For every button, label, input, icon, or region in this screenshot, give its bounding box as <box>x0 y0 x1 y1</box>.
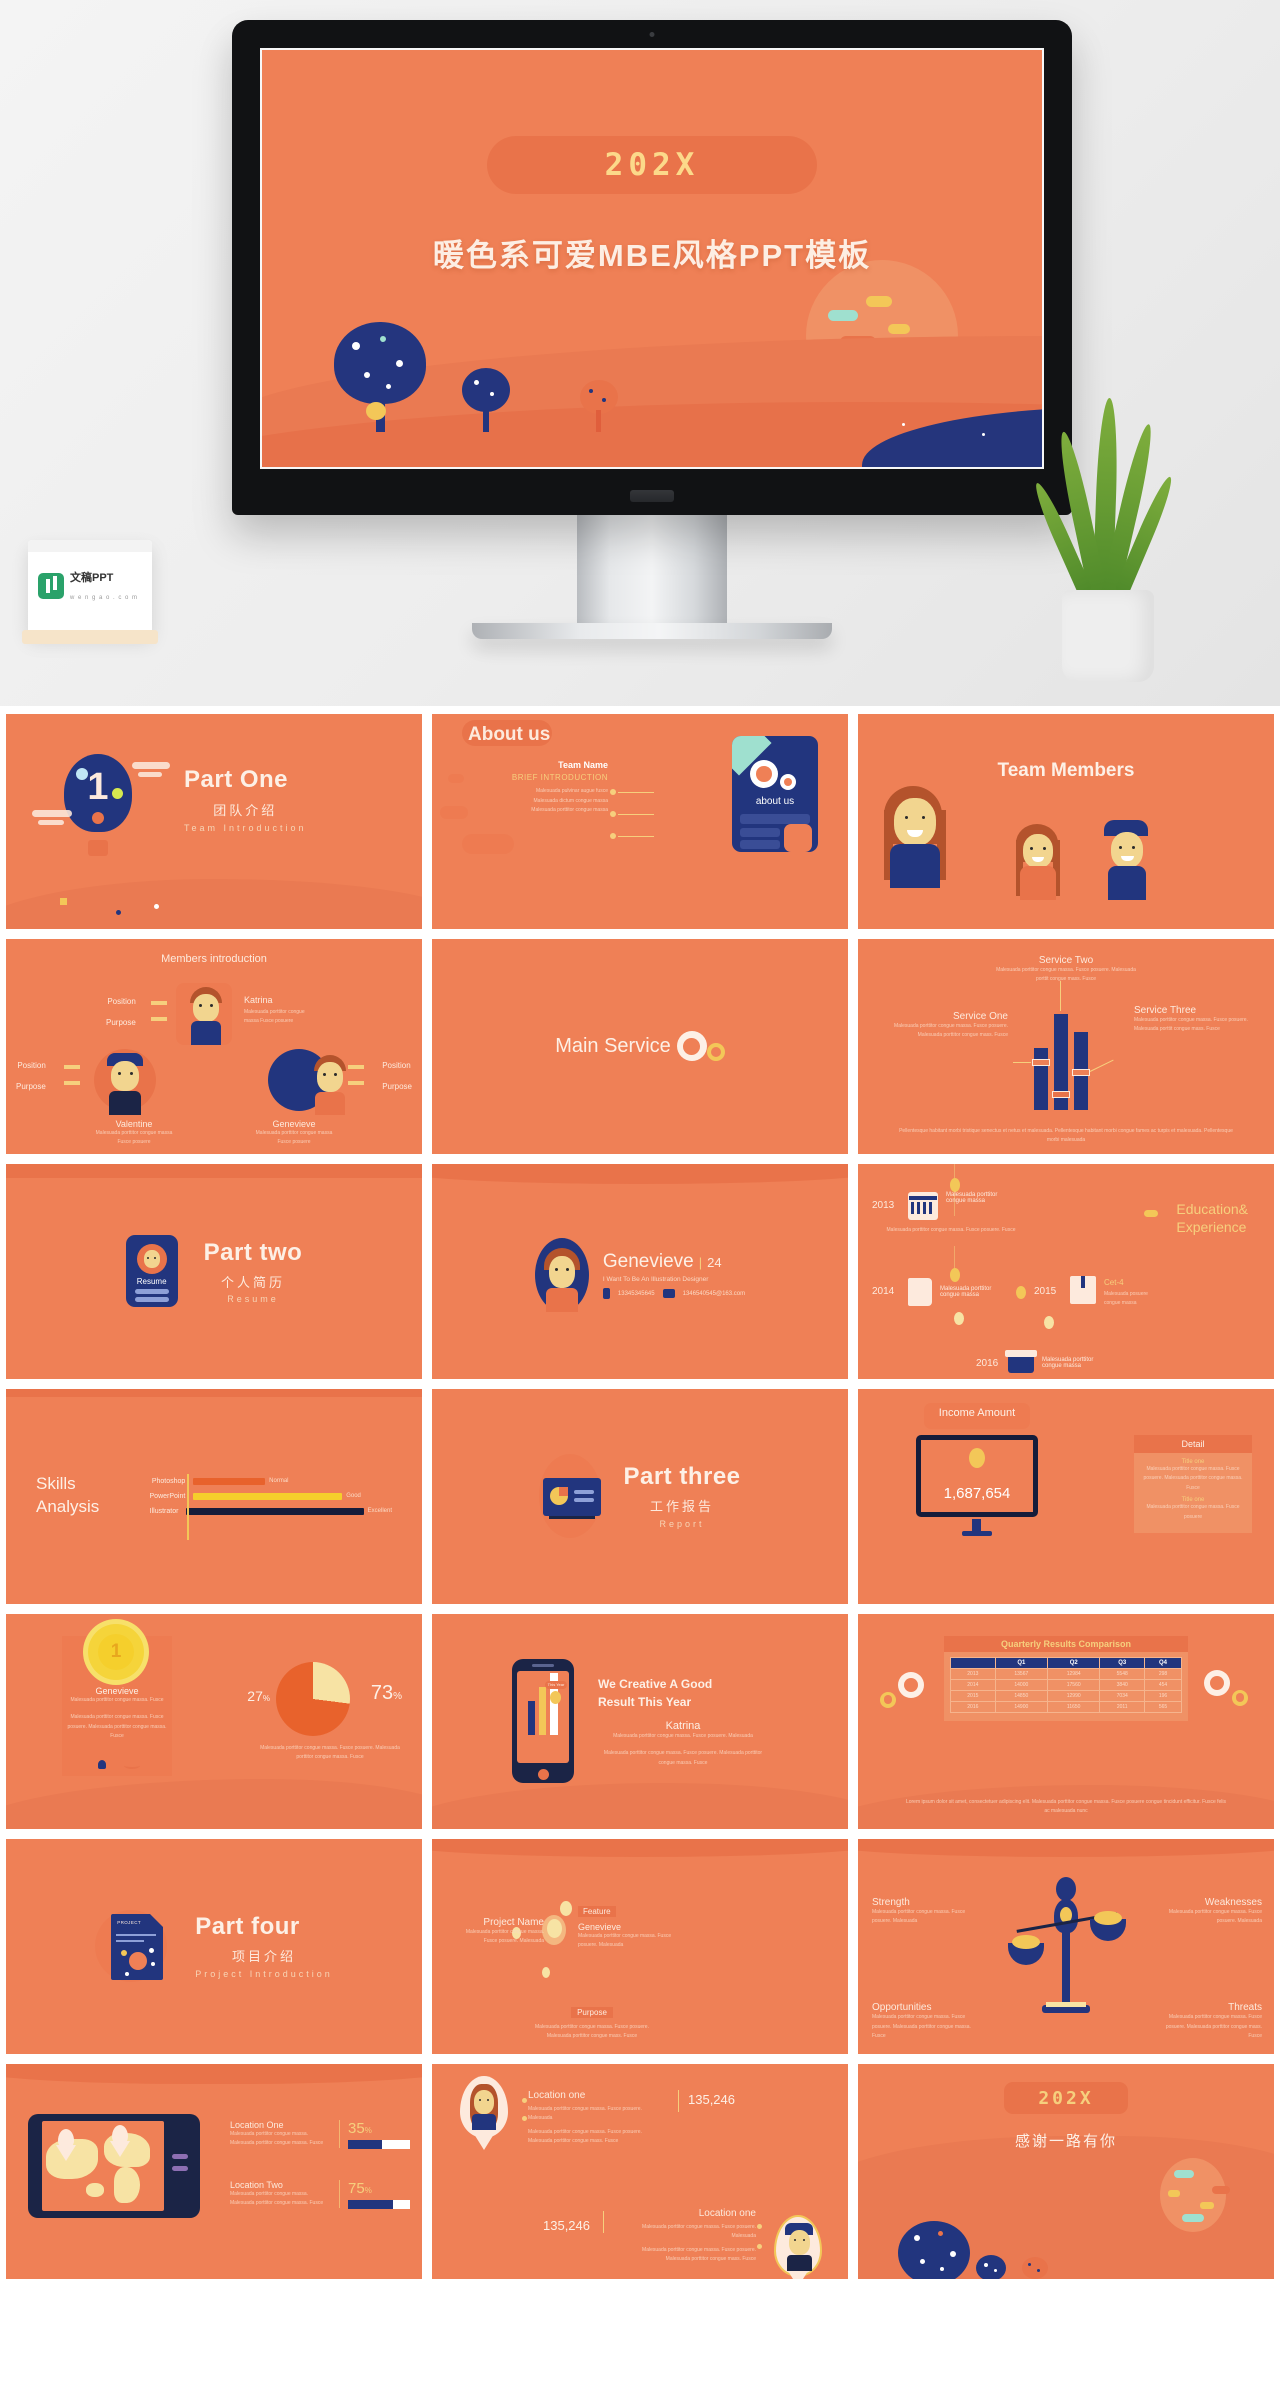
table-col-head: Q4 <box>1145 1657 1182 1668</box>
calendar-brand-sub: w e n g a o . c o m <box>70 595 138 601</box>
tree-small <box>976 2255 1006 2279</box>
map-pin-male <box>774 2215 822 2277</box>
phone-icon <box>603 1288 610 1299</box>
tablet-mockup <box>28 2114 200 2218</box>
location-bullet: Malesuada porttitor congue massa. Fusce … <box>618 2223 756 2242</box>
year-badge-label: 202X <box>605 147 700 183</box>
service-label: Service One <box>888 1011 1008 1022</box>
location-label: Location one <box>618 2208 756 2219</box>
purpose-label: Purpose <box>571 2007 613 2018</box>
members-intro-heading: Members introduction <box>6 953 422 965</box>
location-desc: Malesuada porttitor congue massa. Malesu… <box>230 2190 331 2209</box>
award-sub: Malesuada porttitor congue massa. Fusce <box>62 1696 172 1706</box>
apple-logo-icon <box>630 490 674 502</box>
detail-heading: Detail <box>1134 1435 1252 1453</box>
location-label: Location Two <box>230 2180 331 2190</box>
income-amount: 1,687,654 <box>921 1485 1033 1502</box>
cell: 5548 <box>1100 1668 1145 1679</box>
swot-label: Opportunities <box>872 2002 982 2013</box>
table-col-head <box>951 1657 996 1668</box>
plant-decoration <box>1034 422 1184 682</box>
service-label: Service Two <box>996 955 1136 966</box>
member-name: Valentine <box>94 1119 174 1129</box>
feature-name: Genevieve <box>578 1922 676 1932</box>
slide-about-us[interactable]: About us Team Name BRIEF INTRODUCTION Ma… <box>432 714 848 929</box>
slide-service-columns[interactable]: Service Two Malesuada porttitor congue m… <box>858 939 1274 1154</box>
slide-thumbnail-grid: 1 Part One 团队介绍 Team Introduction About … <box>0 706 1280 2299</box>
bar-1 <box>1034 1048 1048 1110</box>
result-heading-1: We Creative A Good <box>598 1677 712 1691</box>
skill-rating: Excellent <box>368 1508 392 1514</box>
profile-email: 1346540545@163.com <box>683 1291 745 1297</box>
slide-title-cn: 团队介绍 <box>184 800 307 819</box>
member-field-label: Purpose <box>382 1082 412 1091</box>
swot-label: Weaknesses <box>1162 1897 1262 1908</box>
project-file-icon: PROJECT <box>111 1914 163 1980</box>
slide-subtitle: Project Introduction <box>195 1969 333 1979</box>
slide-location-pins[interactable]: Location one Malesuada porttitor congue … <box>432 2064 848 2279</box>
project-card-label: PROJECT <box>117 1920 141 1925</box>
swot-desc: Malesuada porttitor congue massa. Fusce … <box>1162 1908 1262 1927</box>
timeline-title: Malesuada porttitor congue massa <box>940 1286 1006 1298</box>
pct-symbol: % <box>365 2126 372 2135</box>
cell: 12990 <box>1048 1690 1100 1701</box>
map-pin-icon <box>58 2129 74 2149</box>
chart-screen-icon <box>543 1478 601 1516</box>
team-members-heading: Team Members <box>858 760 1274 782</box>
pct-symbol: % <box>393 1691 402 1702</box>
slide-title-cn: 个人简历 <box>204 1272 303 1291</box>
location-value: 135,246 <box>543 2218 590 2233</box>
detail-desc: Malesuada porttitor congue massa. Fusce … <box>1142 1465 1244 1494</box>
member-name: Katrina <box>244 995 320 1005</box>
table-col-head: Q3 <box>1100 1657 1145 1668</box>
phone-mockup: This Year <box>512 1659 574 1783</box>
slide-title-cn: 项目介绍 <box>195 1946 333 1965</box>
mail-icon <box>663 1289 675 1298</box>
location-label: Location One <box>230 2120 331 2130</box>
gear-icon <box>677 1031 707 1061</box>
skills-bar-chart: Photoshop Normal PowerPoint Good Illustr… <box>135 1478 392 1515</box>
slide-project-feature[interactable]: Project Name Malesuada porttitor congue … <box>432 1839 848 2054</box>
map-pin-female <box>460 2076 508 2138</box>
result-heading-2: Result This Year <box>598 1695 691 1709</box>
slide-thanks-cover[interactable]: 202X 感谢一路有你 <box>858 2064 1274 2279</box>
member-name: Genevieve <box>254 1119 334 1129</box>
cell: 3840 <box>1100 1679 1145 1690</box>
purpose-desc: Malesuada porttitor congue massa. Fusce … <box>528 2023 656 2042</box>
cell: 2014 <box>951 1679 996 1690</box>
award-desc: Malesuada porttitor congue massa. Fusce … <box>62 1713 172 1742</box>
swot-desc: Malesuada porttitor congue massa. Fusce … <box>1152 2013 1262 2042</box>
member-field-label: Position <box>16 1061 46 1070</box>
slide-education-experience[interactable]: Education& Experience 2013 Malesuada por… <box>858 1164 1274 1379</box>
project-desc: Malesuada porttitor congue massa. Fusce … <box>452 1928 544 1947</box>
hero-slide-screen: 202X 暖色系可爱MBE风格PPT模板 <box>260 48 1044 469</box>
cell: 17560 <box>1048 1679 1100 1690</box>
skills-heading-1: Skills <box>36 1473 99 1496</box>
timeline-desc: Malesuada posuere congue massa <box>1104 1290 1158 1309</box>
map-pin-icon <box>112 2125 128 2145</box>
member-field-label: Purpose <box>106 1018 136 1027</box>
location-desc: Malesuada porttitor congue massa. Malesu… <box>230 2130 331 2149</box>
timeline-year: 2013 <box>872 1200 894 1211</box>
tree-small <box>462 368 510 412</box>
timeline-title: Cet-4 <box>1104 1278 1124 1287</box>
edu-heading-1: Education& <box>1176 1200 1248 1218</box>
profile-age: 24 <box>707 1255 721 1270</box>
gear-icon <box>1204 1670 1230 1696</box>
cell: 298 <box>1145 1668 1182 1679</box>
location-label: Location one <box>528 2090 666 2101</box>
cell: 2011 <box>1100 1701 1145 1712</box>
slide-part-three-cover[interactable]: Part three 工作报告 Report <box>432 1389 848 1604</box>
slide-subtitle: Team Introduction <box>184 823 307 833</box>
slide-swot-balance[interactable]: Strength Malesuada porttitor congue mass… <box>858 1839 1274 2054</box>
monitor-frame: 1,687,654 <box>916 1435 1038 1517</box>
webcam-icon <box>650 32 655 37</box>
gear-icon-small <box>880 1692 896 1708</box>
slide-quarterly-table[interactable]: Quarterly Results Comparison Q1 Q2 Q3 Q4… <box>858 1614 1274 1829</box>
bush-orange <box>580 380 618 414</box>
desk-calendar: 文稿PPT w e n g a o . c o m <box>28 540 152 634</box>
slide-phone-result[interactable]: This Year We Creative A Good Result This… <box>432 1614 848 1829</box>
brand-logo-icon <box>38 573 64 599</box>
slide-title-en: Part two <box>204 1239 303 1267</box>
imac-mockup: 202X 暖色系可爱MBE风格PPT模板 <box>232 20 1072 639</box>
pie-right-value: 73 <box>371 1682 393 1704</box>
pie-desc: Malesuada porttitor congue massa. Fusce … <box>260 1744 400 1763</box>
profile-phone: 13345345645 <box>618 1291 655 1297</box>
table-title: Quarterly Results Comparison <box>944 1636 1188 1652</box>
slide-profile-card[interactable]: Genevieve | 24 I Want To Be An Illustrat… <box>432 1164 848 1379</box>
feature-desc: Malesuada porttitor congue massa. Fusce … <box>578 1932 676 1951</box>
feature-label: Feature <box>578 1906 616 1917</box>
timeline-year: 2014 <box>872 1286 894 1297</box>
award-name: Genevieve <box>62 1686 172 1696</box>
slide-members-introduction[interactable]: Members introduction Position Purpose Ka… <box>6 939 422 1154</box>
cell: 14000 <box>995 1679 1047 1690</box>
quarterly-results-table: Q1 Q2 Q3 Q4 201313567129845548298 201414… <box>950 1657 1182 1713</box>
slide-income-amount[interactable]: Income Amount 1,687,654 Detail Title one… <box>858 1389 1274 1604</box>
table-row: 201614900116502011565 <box>951 1701 1182 1712</box>
location-bullet: Malesuada porttitor congue massa. Fusce … <box>528 2105 666 2124</box>
slide-main-service-cover[interactable]: Main Service <box>432 939 848 1154</box>
book-icon <box>908 1278 932 1306</box>
service-footnote: Pellentesque habitant morbi tristique se… <box>898 1127 1234 1146</box>
table-row: 201414000175603840454 <box>951 1679 1182 1690</box>
timeline-year: 2016 <box>976 1358 998 1369</box>
result-desc: Malesuada porttitor congue massa. Fusce … <box>598 1732 768 1742</box>
profile-tagline: I Want To Be An Illustration Designer <box>603 1276 745 1283</box>
cell: 14850 <box>995 1690 1047 1701</box>
balance-scale-icon <box>1006 1877 1126 2013</box>
year-badge: 202X <box>487 136 817 194</box>
cell: 13567 <box>995 1668 1047 1679</box>
timeline-year: 2015 <box>1034 1286 1056 1297</box>
edu-heading-2: Experience <box>1176 1218 1248 1236</box>
slide-part-one-cover[interactable]: 1 Part One 团队介绍 Team Introduction <box>6 714 422 929</box>
bush-orange <box>1022 2257 1048 2279</box>
about-bullet: Malesuada dictum congue massa <box>490 797 608 807</box>
resume-card-icon: Resume <box>126 1235 178 1307</box>
member-field-label: Position <box>382 1061 412 1070</box>
cell: 7034 <box>1100 1690 1145 1701</box>
detail-desc: Malesuada porttitor congue massa. Fusce … <box>1142 1503 1244 1522</box>
about-bullet: Malesuada pulvinar augue fusce <box>490 787 608 797</box>
service-desc: Malesuada porttitor congue massa. Fusce … <box>996 966 1136 985</box>
cell: 12984 <box>1048 1668 1100 1679</box>
location-pct: 75 <box>348 2180 365 2197</box>
hero-title: 暖色系可爱MBE风格PPT模板 <box>262 230 1042 275</box>
calendar-binding <box>28 540 152 552</box>
gear-icon-small <box>1232 1690 1248 1706</box>
medal-icon: 1 <box>88 1624 144 1680</box>
table-footnote: Lorem ipsum dolor sit amet, consectetuer… <box>904 1798 1228 1817</box>
table-col-head: Q1 <box>995 1657 1047 1668</box>
location-pct: 35 <box>348 2120 365 2137</box>
gear-icon-small <box>707 1043 725 1061</box>
hero-desk-mockup: 202X 暖色系可爱MBE风格PPT模板 文稿PPT w e n g a o .… <box>0 0 1280 706</box>
slide-team-members[interactable]: Team Members <box>858 714 1274 929</box>
table-row: 201313567129845548298 <box>951 1668 1182 1679</box>
table-header-row: Q1 Q2 Q3 Q4 <box>951 1657 1182 1668</box>
skill-label: Illustrator <box>135 1508 178 1515</box>
calendar-base <box>22 630 158 644</box>
about-bullet: Malesuada porttitor congue massa <box>490 806 608 816</box>
service-desc: Malesuada porttitor congue massa. Fusce … <box>1134 1016 1252 1035</box>
cell: 565 <box>1145 1701 1182 1712</box>
slide-part-four-cover[interactable]: PROJECT Part four 项目介绍 Project Introduct… <box>6 1839 422 2054</box>
result-desc-2: Malesuada porttitor congue massa. Fusce … <box>598 1749 768 1768</box>
cell: 11650 <box>1048 1701 1100 1712</box>
slide-title-cn: 工作报告 <box>623 1496 740 1515</box>
skill-rating: Good <box>346 1493 361 1499</box>
table-col-head: Q2 <box>1048 1657 1100 1668</box>
open-book-icon <box>1070 1276 1096 1304</box>
cell: 2013 <box>951 1668 996 1679</box>
timeline-title: Malesuada porttitor congue massa <box>1042 1357 1108 1369</box>
table-row: 201514850129907034196 <box>951 1690 1182 1701</box>
pie-left-value: 27 <box>247 1688 263 1704</box>
slide-skills-analysis[interactable]: Skills Analysis Photoshop Normal PowerPo… <box>6 1389 422 1604</box>
imac-stand-neck <box>577 515 727 623</box>
service-desc: Malesuada porttitor congue massa. Fusce … <box>888 1022 1008 1041</box>
slide-part-two-cover[interactable]: Resume Part two 个人简历 Resume <box>6 1164 422 1379</box>
pie-chart <box>276 1662 350 1736</box>
project-icon-backdrop: PROJECT <box>95 1910 167 1982</box>
slide-title-en: Part four <box>195 1913 333 1941</box>
timeline-title: Malesuada porttitor congue massa <box>946 1192 1018 1204</box>
calendar-brand-text: 文稿PPT <box>70 572 113 584</box>
about-heading: About us <box>468 724 550 746</box>
slide-tablet-locations[interactable]: Location One Malesuada porttitor congue … <box>6 2064 422 2279</box>
thanks-year-badge: 202X <box>858 2088 1274 2109</box>
result-person: Katrina <box>598 1720 768 1732</box>
location-value: 135,246 <box>688 2092 735 2107</box>
graduation-cap-icon <box>1008 1353 1034 1373</box>
bush-tiny <box>366 402 386 420</box>
cell: 196 <box>1145 1690 1182 1701</box>
brief-label: BRIEF INTRODUCTION <box>490 773 608 782</box>
cell: 2015 <box>951 1690 996 1701</box>
income-heading: Income Amount <box>924 1407 1030 1419</box>
pct-symbol: % <box>365 2186 372 2195</box>
cell: 2016 <box>951 1701 996 1712</box>
member-field-label: Position <box>106 997 136 1006</box>
imac-bezel: 202X 暖色系可爱MBE风格PPT模板 <box>232 20 1072 515</box>
slide-subtitle: Report <box>623 1519 740 1529</box>
cell: 14900 <box>995 1701 1047 1712</box>
tree-large <box>334 322 426 404</box>
team-name: Team Name <box>490 760 608 770</box>
report-icon-backdrop <box>539 1454 601 1538</box>
about-card-label: about us <box>732 796 818 807</box>
skills-heading-2: Analysis <box>36 1496 99 1519</box>
service-label: Service Three <box>1134 1005 1252 1016</box>
pct-symbol: % <box>263 1694 270 1703</box>
main-service-heading: Main Service <box>555 1035 671 1058</box>
thanks-text: 感谢一路有你 <box>858 2130 1274 2151</box>
tree-large <box>898 2221 970 2279</box>
avatar-genevieve <box>535 1238 589 1312</box>
location-bullet: Malesuada porttitor congue massa. Fusce … <box>618 2246 756 2265</box>
slide-subtitle: Resume <box>204 1294 303 1304</box>
profile-name: Genevieve <box>603 1251 694 1273</box>
member-field-label: Purpose <box>16 1082 46 1091</box>
timeline-desc: Malesuada porttitor congue massa. Fusce … <box>886 1226 1016 1236</box>
swot-desc: Malesuada porttitor congue massa. Fusce … <box>872 2013 982 2042</box>
bank-icon <box>908 1192 938 1220</box>
location-bullet: Malesuada porttitor congue massa. Fusce … <box>528 2128 666 2147</box>
skill-rating: Normal <box>269 1478 288 1484</box>
skill-label: Photoshop <box>135 1478 185 1485</box>
project-name: Project Name <box>452 1917 544 1928</box>
slide-award-pie[interactable]: 1 Genevieve Malesuada porttitor congue m… <box>6 1614 422 1829</box>
swot-label: Strength <box>872 1897 972 1908</box>
skill-label: PowerPoint <box>135 1493 185 1500</box>
swot-label: Threats <box>1152 2002 1262 2013</box>
imac-stand-foot <box>472 623 832 639</box>
gear-icon <box>898 1672 924 1698</box>
swot-desc: Malesuada porttitor congue massa. Fusce … <box>872 1908 972 1927</box>
slide-title-en: Part three <box>623 1463 740 1491</box>
plant-pot <box>1062 590 1154 682</box>
phone-tag: This Year <box>545 1681 567 1689</box>
cell: 454 <box>1145 1679 1182 1690</box>
slide-title-en: Part One <box>184 766 307 794</box>
